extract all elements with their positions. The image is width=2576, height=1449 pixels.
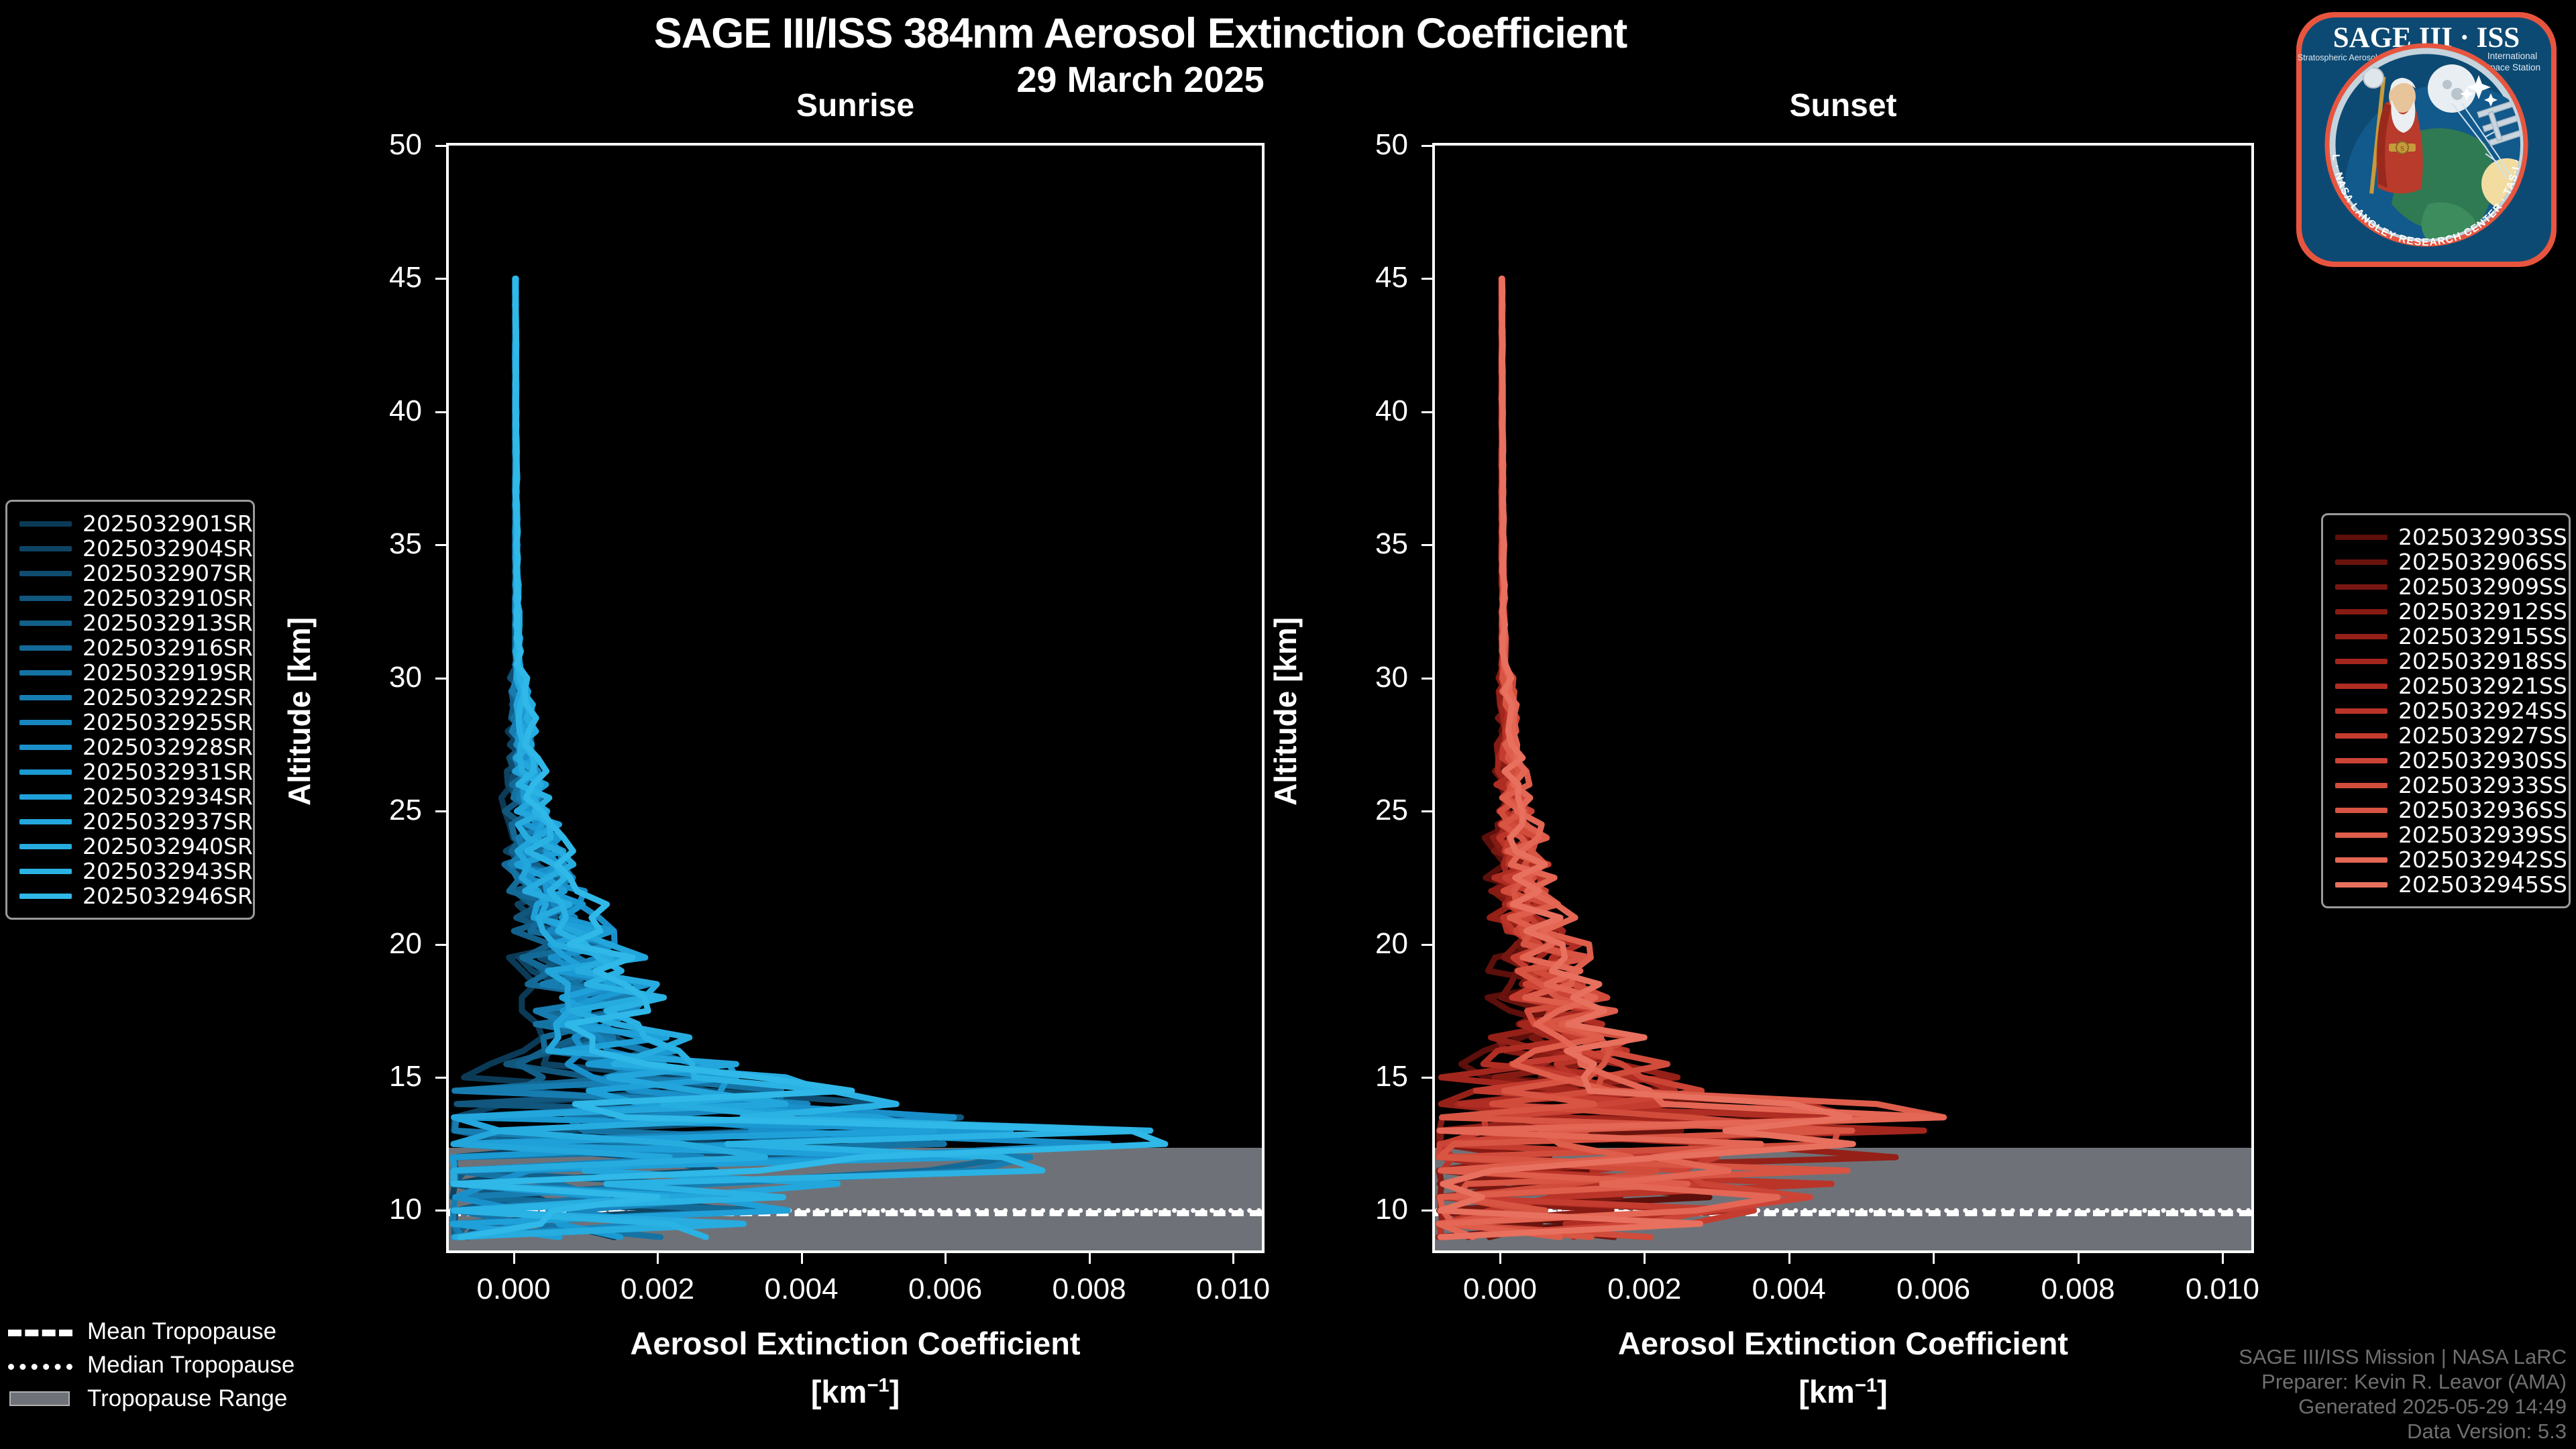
- legend-color-swatch: [19, 546, 72, 551]
- legend-color-swatch: [2335, 609, 2387, 614]
- y-tick-label: 50: [305, 130, 422, 160]
- legend-sunset[interactable]: 2025032903SS2025032906SS2025032909SS2025…: [2321, 513, 2571, 908]
- legend-item[interactable]: 2025032931SR: [19, 759, 241, 784]
- legend-color-swatch: [2335, 659, 2387, 664]
- y-tick-label: 30: [1291, 663, 1408, 692]
- y-tick: [435, 810, 449, 812]
- legend-event-label: 2025032922SR: [83, 684, 253, 710]
- credit-preparer: Preparer: Kevin R. Leavor (AMA): [2239, 1369, 2567, 1394]
- legend-item[interactable]: 2025032927SS: [2335, 723, 2557, 748]
- credits-block: SAGE III/ISS Mission | NASA LaRC Prepare…: [2239, 1344, 2567, 1444]
- legend-color-swatch: [19, 894, 72, 899]
- legend-event-label: 2025032928SR: [83, 734, 253, 760]
- plot-area-sunrise: [446, 143, 1265, 1253]
- y-tick: [1421, 678, 1435, 680]
- legend-event-label: 2025032925SR: [83, 709, 253, 735]
- legend-item[interactable]: 2025032945SS: [2335, 872, 2557, 897]
- legend-event-label: 2025032934SR: [83, 784, 253, 810]
- legend-color-swatch: [19, 769, 72, 775]
- y-tick-label: 45: [1291, 263, 1408, 292]
- legend-item[interactable]: 2025032930SS: [2335, 748, 2557, 773]
- legend-event-label: 2025032906SS: [2398, 549, 2567, 575]
- plot-area-sunset: [1432, 143, 2254, 1253]
- legend-color-swatch: [19, 645, 72, 651]
- legend-event-label: 2025032912SS: [2398, 598, 2567, 625]
- legend-item[interactable]: 2025032913SR: [19, 610, 241, 635]
- x-axis-title: Aerosol Extinction Coefficient[km−1]: [1435, 1323, 2251, 1413]
- legend-color-swatch: [2335, 808, 2387, 813]
- legend-event-label: 2025032927SS: [2398, 722, 2567, 749]
- x-tick: [1499, 1250, 1501, 1264]
- y-tick: [435, 278, 449, 280]
- y-tick: [1421, 1210, 1435, 1212]
- legend-label-mean-tropopause: Mean Tropopause: [87, 1318, 276, 1345]
- legend-color-swatch: [2335, 559, 2387, 565]
- x-tick: [1788, 1250, 1790, 1264]
- legend-color-swatch: [19, 596, 72, 601]
- legend-event-label: 2025032931SR: [83, 759, 253, 785]
- y-tick: [435, 678, 449, 680]
- legend-item[interactable]: 2025032937SR: [19, 809, 241, 834]
- y-tick: [1421, 411, 1435, 413]
- legend-item[interactable]: 2025032934SR: [19, 784, 241, 809]
- legend-color-swatch: [19, 621, 72, 626]
- legend-color-swatch: [2335, 783, 2387, 788]
- legend-event-label: 2025032940SR: [83, 833, 253, 859]
- x-tick: [801, 1250, 803, 1264]
- y-tick-label: 15: [1291, 1062, 1408, 1091]
- x-tick: [513, 1250, 515, 1264]
- legend-color-swatch: [2335, 584, 2387, 590]
- legend-item[interactable]: 2025032915SS: [2335, 624, 2557, 649]
- x-tick: [657, 1250, 659, 1264]
- y-axis-title: Altitude [km]: [281, 616, 317, 805]
- y-tick-label: 20: [1291, 929, 1408, 959]
- legend-event-label: 2025032913SR: [83, 610, 253, 636]
- legend-item-tropopause-range: Tropopause Range: [8, 1382, 357, 1415]
- y-tick: [1421, 810, 1435, 812]
- y-tick-label: 50: [1291, 130, 1408, 160]
- legend-color-swatch: [19, 521, 72, 527]
- legend-item[interactable]: 2025032903SS: [2335, 525, 2557, 549]
- y-tick-label: 35: [305, 529, 422, 559]
- legend-item[interactable]: 2025032912SS: [2335, 599, 2557, 624]
- legend-item[interactable]: 2025032904SR: [19, 536, 241, 561]
- sunrise-profile-curves: [449, 146, 1262, 1250]
- legend-color-swatch: [19, 571, 72, 576]
- legend-item[interactable]: 2025032933SS: [2335, 773, 2557, 798]
- legend-color-swatch: [19, 819, 72, 824]
- legend-item[interactable]: 2025032922SR: [19, 685, 241, 710]
- x-tick: [945, 1250, 947, 1264]
- legend-item-mean-tropopause: Mean Tropopause: [8, 1315, 357, 1348]
- y-tick-label: 10: [1291, 1195, 1408, 1224]
- legend-label-median-tropopause: Median Tropopause: [87, 1352, 294, 1379]
- legend-color-swatch: [19, 794, 72, 800]
- legend-item[interactable]: 2025032925SR: [19, 710, 241, 735]
- panel-title-sunset: Sunset: [1432, 87, 2254, 124]
- legend-event-label: 2025032943SR: [83, 858, 253, 884]
- legend-label-tropopause-range: Tropopause Range: [87, 1385, 287, 1412]
- y-tick-label: 10: [305, 1195, 422, 1224]
- legend-item[interactable]: 2025032916SR: [19, 635, 241, 660]
- y-tick: [1421, 944, 1435, 946]
- legend-item[interactable]: 2025032942SS: [2335, 847, 2557, 872]
- legend-color-swatch: [19, 745, 72, 750]
- x-tick: [1089, 1250, 1091, 1264]
- x-tick: [1644, 1250, 1646, 1264]
- y-tick-label: 15: [305, 1062, 422, 1091]
- legend-event-label: 2025032933SS: [2398, 772, 2567, 798]
- x-tick-label: 0.010: [1146, 1275, 1320, 1304]
- legend-color-swatch: [2335, 634, 2387, 639]
- legend-color-swatch: [19, 869, 72, 874]
- credit-data-version: Data Version: 5.3: [2239, 1419, 2567, 1444]
- legend-color-swatch: [2335, 535, 2387, 540]
- legend-event-label: 2025032915SS: [2398, 623, 2567, 649]
- legend-event-label: 2025032936SS: [2398, 797, 2567, 823]
- y-tick: [435, 145, 449, 147]
- dotted-line-icon: [8, 1358, 72, 1373]
- legend-item[interactable]: 2025032919SR: [19, 660, 241, 685]
- y-tick: [435, 1210, 449, 1212]
- y-tick-label: 25: [1291, 796, 1408, 825]
- y-tick-label: 25: [305, 796, 422, 825]
- y-tick: [1421, 544, 1435, 546]
- x-tick-label: 0.010: [2135, 1275, 2310, 1304]
- y-tick-label: 40: [1291, 396, 1408, 426]
- legend-event-label: 2025032945SS: [2398, 871, 2567, 898]
- legend-sunrise[interactable]: 2025032901SR2025032904SR2025032907SR2025…: [5, 500, 255, 920]
- legend-color-swatch: [2335, 857, 2387, 863]
- legend-event-label: 2025032916SR: [83, 635, 253, 661]
- legend-color-swatch: [2335, 684, 2387, 689]
- y-tick: [1421, 1077, 1435, 1079]
- filled-band-icon: [8, 1391, 72, 1406]
- y-tick: [435, 544, 449, 546]
- page-title: SAGE III/ISS 384nm Aerosol Extinction Co…: [0, 9, 2281, 58]
- legend-event-label: 2025032942SS: [2398, 847, 2567, 873]
- legend-event-label: 2025032946SR: [83, 883, 253, 909]
- y-tick-label: 35: [1291, 529, 1408, 559]
- sunset-profile-curves: [1435, 146, 2251, 1250]
- legend-event-label: 2025032903SS: [2398, 524, 2567, 550]
- legend-color-swatch: [19, 720, 72, 725]
- x-axis-units: [km−1]: [811, 1374, 900, 1409]
- x-tick: [1232, 1250, 1234, 1264]
- x-axis-title: Aerosol Extinction Coefficient[km−1]: [449, 1323, 1262, 1413]
- legend-item[interactable]: 2025032940SR: [19, 834, 241, 859]
- sage-iii-iss-mission-logo: SAGE III · ISS Stratospheric Aerosol and…: [2284, 3, 2569, 271]
- legend-item[interactable]: 2025032924SS: [2335, 698, 2557, 723]
- y-tick: [435, 944, 449, 946]
- credit-generated: Generated 2025-05-29 14:49: [2239, 1394, 2567, 1419]
- legend-item[interactable]: 2025032936SS: [2335, 798, 2557, 822]
- dashed-line-icon: [8, 1324, 72, 1339]
- legend-color-swatch: [2335, 882, 2387, 888]
- legend-item[interactable]: 2025032946SR: [19, 883, 241, 908]
- y-tick: [435, 411, 449, 413]
- logo-subtitle-right-1: International: [2487, 51, 2537, 61]
- legend-event-label: 2025032904SR: [83, 535, 253, 561]
- credit-mission: SAGE III/ISS Mission | NASA LaRC: [2239, 1344, 2567, 1369]
- legend-event-label: 2025032939SS: [2398, 822, 2567, 848]
- y-tick: [1421, 145, 1435, 147]
- legend-item-median-tropopause: Median Tropopause: [8, 1348, 357, 1382]
- x-axis-units: [km−1]: [1799, 1374, 1887, 1409]
- legend-color-swatch: [19, 695, 72, 700]
- legend-event-label: 2025032919SR: [83, 659, 253, 686]
- y-tick: [435, 1077, 449, 1079]
- legend-item[interactable]: 2025032901SR: [19, 511, 241, 536]
- legend-event-label: 2025032937SR: [83, 808, 253, 835]
- y-tick-label: 30: [305, 663, 422, 692]
- legend-color-swatch: [2335, 733, 2387, 739]
- panel-title-sunrise: Sunrise: [446, 87, 1265, 124]
- legend-event-label: 2025032918SS: [2398, 648, 2567, 674]
- legend-item[interactable]: 2025032943SR: [19, 859, 241, 883]
- legend-color-swatch: [2335, 708, 2387, 714]
- legend-event-label: 2025032930SS: [2398, 747, 2567, 773]
- legend-item[interactable]: 2025032918SS: [2335, 649, 2557, 674]
- legend-event-label: 2025032921SS: [2398, 673, 2567, 699]
- x-tick: [2078, 1250, 2080, 1264]
- legend-color-swatch: [2335, 758, 2387, 763]
- legend-color-swatch: [2335, 833, 2387, 838]
- legend-color-swatch: [19, 844, 72, 849]
- x-tick: [2222, 1250, 2224, 1264]
- legend-item[interactable]: 2025032921SS: [2335, 674, 2557, 698]
- legend-item[interactable]: 2025032907SR: [19, 561, 241, 586]
- legend-item[interactable]: 2025032928SR: [19, 735, 241, 759]
- legend-item[interactable]: 2025032910SR: [19, 586, 241, 610]
- x-tick: [1933, 1250, 1935, 1264]
- svg-text:S: S: [2400, 145, 2404, 153]
- legend-color-swatch: [19, 670, 72, 676]
- legend-event-label: 2025032924SS: [2398, 698, 2567, 724]
- legend-event-label: 2025032909SS: [2398, 574, 2567, 600]
- y-axis-title: Altitude [km]: [1267, 616, 1303, 805]
- legend-event-label: 2025032901SR: [83, 511, 253, 537]
- y-tick-label: 20: [305, 929, 422, 959]
- y-tick-label: 45: [305, 263, 422, 292]
- legend-item[interactable]: 2025032939SS: [2335, 822, 2557, 847]
- y-tick-label: 40: [305, 396, 422, 426]
- legend-event-label: 2025032910SR: [83, 585, 253, 611]
- y-tick: [1421, 278, 1435, 280]
- legend-event-label: 2025032907SR: [83, 560, 253, 586]
- legend-item[interactable]: 2025032906SS: [2335, 549, 2557, 574]
- legend-tropopause: Mean Tropopause Median Tropopause Tropop…: [8, 1315, 357, 1415]
- legend-item[interactable]: 2025032909SS: [2335, 574, 2557, 599]
